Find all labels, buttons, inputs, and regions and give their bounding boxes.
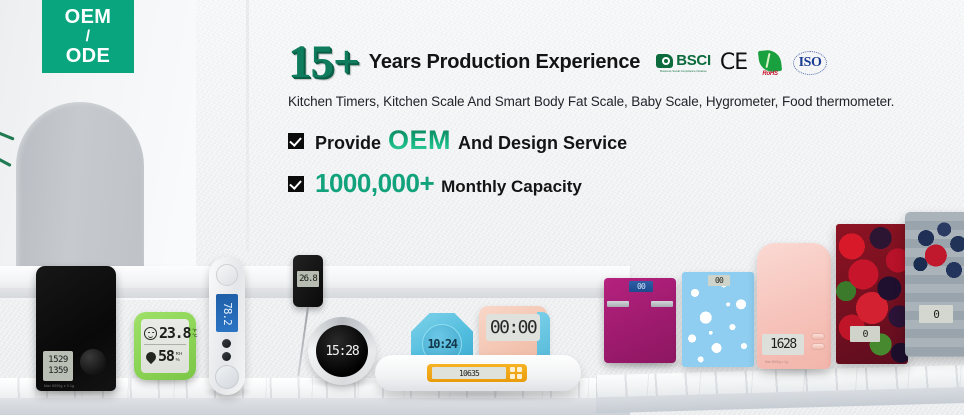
white-scale-value: 10635 [459, 369, 479, 378]
bullet-1-suffix: And Design Service [458, 133, 627, 154]
bullet-2-highlight: 1000,000+ [315, 168, 434, 199]
product-food-thermometer: 78.2 [209, 257, 245, 395]
bullet-1-prefix: Provide [315, 133, 381, 154]
bullet-1-highlight: OEM [388, 125, 451, 156]
cert-bsci: BSCI Business Social Compliance Initiati… [656, 52, 711, 73]
white-scale-display: 10635 [432, 367, 506, 379]
pink-scale-display: 1628 [762, 334, 804, 355]
marketing-copy: 15+ Years Production Experience BSCI Bus… [288, 40, 958, 211]
checkbox-checked-icon [288, 133, 304, 149]
pink-scale-buttons [811, 333, 825, 353]
product-magenta-body-fat-scale: 00 [604, 278, 676, 363]
black-scale-button-pad [80, 349, 106, 375]
magenta-scale-electrode-left [607, 301, 629, 307]
product-white-platform-scale: 10635 [375, 355, 581, 391]
product-black-kitchen-scale: 1529 1359 Max 5000g x 0.1g [36, 266, 116, 391]
thermometer-display: 78.2 [216, 294, 238, 332]
years-number: 15+ [288, 40, 359, 85]
wall-panel-seam [246, 0, 249, 252]
hygrometer-humidity-row: 58 RH % [144, 345, 186, 368]
smiley-face-icon [144, 327, 157, 340]
polka-dot-pattern [682, 272, 754, 367]
peach-timer-value: 00:00 [490, 317, 536, 338]
cert-iso: ISO [793, 51, 827, 75]
bsci-sublabel: Business Social Compliance Initiative [660, 70, 707, 73]
headline-row: 15+ Years Production Experience BSCI Bus… [288, 40, 958, 85]
wood-scale-value: 0 [933, 308, 939, 321]
hygrometer-temperature-unit: °F °C [192, 328, 197, 338]
black-scale-value-top: 1529 [48, 355, 68, 366]
black-scale-brand-text: Max 5000g x 0.1g [44, 384, 74, 388]
hygrometer-display: 23.8 °F °C 58 RH % [141, 319, 189, 373]
certification-badges: BSCI Business Social Compliance Initiati… [656, 50, 827, 76]
iso-label: ISO [799, 55, 822, 71]
water-drop-icon [144, 349, 158, 363]
dot-scale-value: 00 [715, 276, 723, 285]
magenta-scale-value: 00 [637, 282, 645, 291]
headline-tagline: Years Production Experience [369, 51, 640, 74]
bsci-label: BSCI [676, 52, 711, 69]
berry-scale-display: 0 [850, 326, 880, 342]
oem-ode-badge: OEM / ODE [42, 0, 134, 73]
leaf-sprig-decoration [0, 118, 30, 178]
product-round-timer: 15:28 [311, 320, 373, 382]
badge-line-2: ODE [66, 45, 111, 67]
white-scale-keypad [510, 367, 522, 379]
product-berry-print-scale: 0 [836, 224, 908, 364]
thermometer-base-hinge [215, 365, 239, 389]
arch-niche [16, 102, 144, 286]
product-pink-kitchen-scale: 1628 Max 5000g x 1g [757, 243, 831, 369]
product-green-hygrometer: 23.8 °F °C 58 RH % [134, 312, 196, 380]
promo-banner: OEM / ODE 15+ Years Production Experienc… [0, 0, 964, 415]
hygrometer-humidity-value: 58 [158, 349, 174, 364]
dot-scale-display: 00 [708, 275, 730, 286]
rohs-label: RoHS [756, 71, 784, 77]
round-timer-value: 15:28 [325, 344, 358, 359]
badge-line-1: OEM [65, 6, 112, 28]
cert-ce: CE [720, 50, 747, 75]
rohs-leaf-icon [758, 48, 782, 72]
hygrometer-temperature-value: 23.8 [159, 326, 190, 341]
hygrometer-humidity-unit: RH % [176, 351, 183, 361]
bsci-mark-icon [656, 54, 673, 68]
hygrometer-temperature-row: 23.8 °F °C [144, 322, 186, 345]
badge-slash: / [86, 29, 91, 45]
black-scale-display: 1529 1359 [43, 351, 73, 381]
product-wood-print-scale: 0 [905, 212, 964, 357]
pink-scale-value: 1628 [770, 337, 796, 352]
bullet-oem-service: Provide OEM And Design Service [288, 125, 958, 156]
product-polka-dot-scale: 00 [682, 272, 754, 367]
product-subtitle: Kitchen Timers, Kitchen Scale And Smart … [288, 94, 958, 109]
product-pen-thermometer: 26.8 [293, 255, 323, 307]
cert-rohs: RoHS [756, 50, 784, 76]
temp-unit-bottom: °C [192, 333, 197, 338]
magenta-scale-electrode-right [651, 301, 673, 307]
black-scale-value-bottom: 1359 [48, 366, 68, 377]
white-scale-control-panel: 10635 [427, 364, 527, 382]
feature-bullets: Provide OEM And Design Service 1000,000+… [288, 125, 958, 199]
hum-unit-bottom: % [176, 357, 180, 362]
pen-thermometer-display: 26.8 [297, 271, 319, 287]
thermometer-hinge [216, 264, 238, 286]
thermometer-value: 78.2 [221, 302, 234, 325]
octagon-timer-value: 10:24 [427, 337, 456, 351]
checkbox-checked-icon [288, 176, 304, 192]
bullet-monthly-capacity: 1000,000+ Monthly Capacity [288, 168, 958, 199]
pen-thermometer-probe [297, 307, 308, 377]
pink-scale-brand-text: Max 5000g x 1g [765, 360, 788, 364]
peach-timer-display: 00:00 [486, 314, 540, 341]
round-timer-display: 15:28 [316, 325, 368, 377]
berry-scale-value: 0 [862, 329, 867, 340]
magenta-scale-display: 00 [629, 281, 653, 292]
bullet-2-suffix: Monthly Capacity [441, 177, 582, 197]
wood-scale-display: 0 [919, 305, 953, 323]
